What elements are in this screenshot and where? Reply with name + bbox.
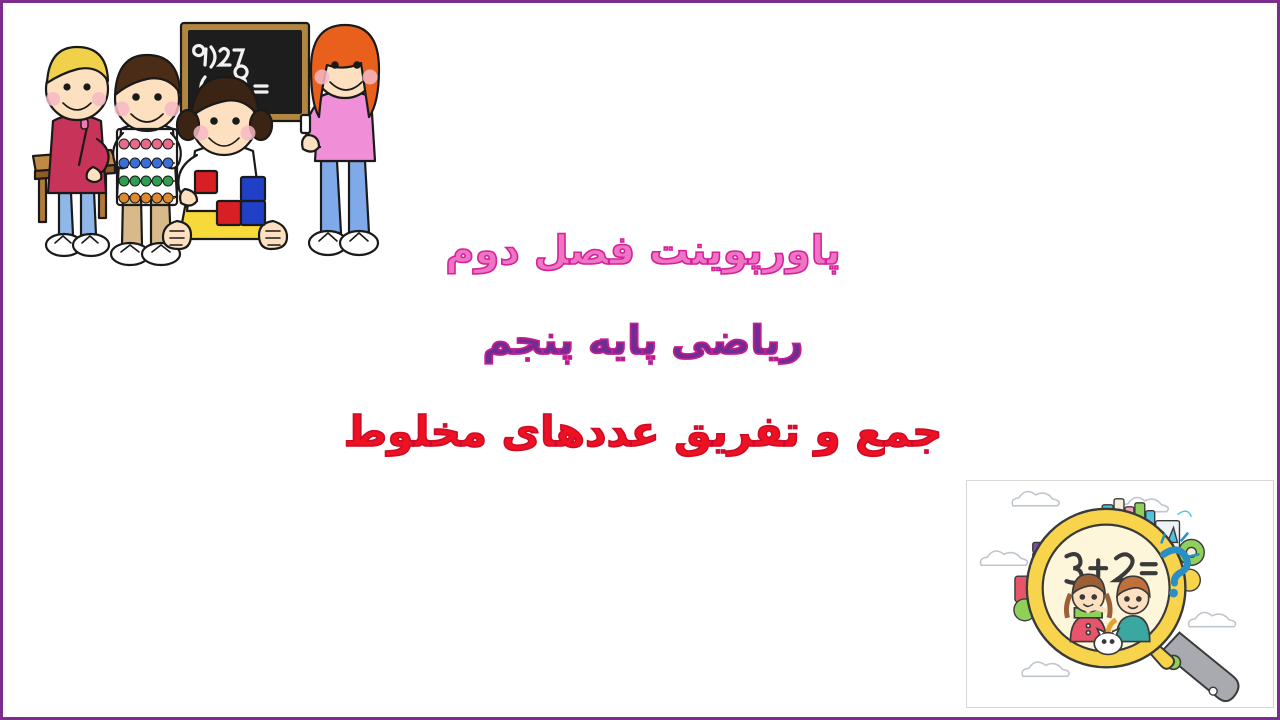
title-line-1: پاورپوینت فصل دوم <box>333 231 953 271</box>
figure-girl-redhead <box>301 25 379 255</box>
red-cube-held <box>195 171 217 193</box>
blue-cube-upper <box>241 177 265 201</box>
red-cube-stack <box>217 201 241 225</box>
title-line-2: ریاضی پایه پنجم <box>333 321 953 361</box>
presentation-slide: .ol { stroke:#1a1a1a; stroke-width:2.2; … <box>0 0 1280 720</box>
chalk-piece <box>301 115 310 133</box>
blue-cube-lower <box>241 201 265 225</box>
magnifier-illustration-svg <box>967 481 1273 707</box>
slide-title-block: پاورپوینت فصل دوم ریاضی پایه پنجم جمع و … <box>333 231 953 453</box>
title-line-3: جمع و تفریق عددهای مخلوط <box>333 411 953 453</box>
framed-magnifier-illustration <box>966 480 1274 708</box>
figure-boy-blond <box>46 47 109 256</box>
abacus <box>117 129 177 205</box>
